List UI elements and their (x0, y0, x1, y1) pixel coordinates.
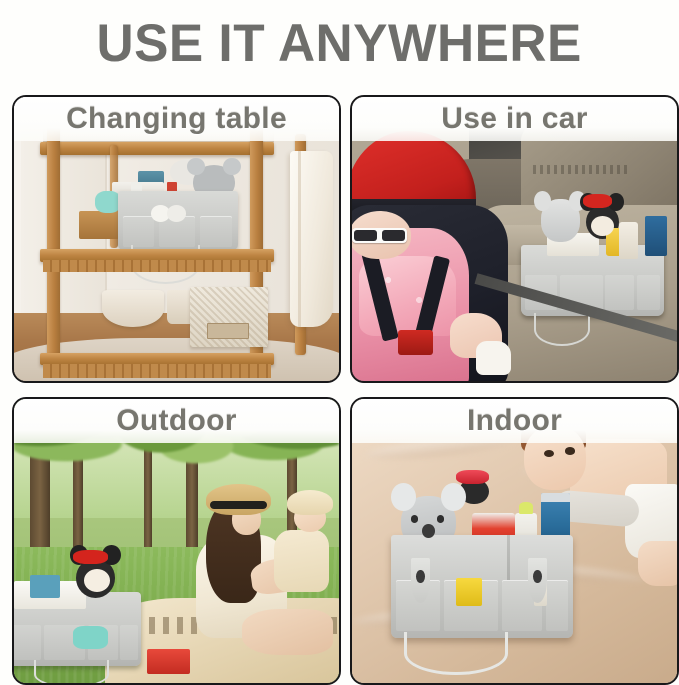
minnie-bow (73, 550, 109, 564)
sunglasses (352, 228, 407, 244)
caddy-handle (34, 660, 110, 683)
white-item (167, 205, 187, 222)
bowl (102, 290, 164, 327)
baby-body (274, 530, 329, 592)
koala-eye (437, 515, 445, 522)
harness-buckle (398, 330, 434, 356)
panel-label-changing-table: Changing table (66, 102, 287, 136)
panel-outdoor: Outdoor (12, 397, 341, 685)
teal-accessory (73, 626, 109, 649)
blue-can (645, 216, 668, 256)
straw-hat (206, 484, 271, 515)
header: USE IT ANYWHERE (0, 0, 679, 86)
panel-label-band: Outdoor (14, 399, 339, 443)
shelf-top (40, 142, 274, 155)
minnie-bow (583, 194, 612, 208)
caddy-snap-closure (411, 558, 431, 603)
panel-label-outdoor: Outdoor (116, 404, 236, 438)
caddy-pocket (120, 625, 138, 660)
panel-changing-table: Changing table (12, 95, 341, 383)
use-case-grid: Changing table (0, 86, 679, 676)
caddy-pocket (546, 580, 568, 631)
baby-eye (565, 447, 575, 454)
minnie-bow (456, 470, 489, 484)
panel-label-use-in-car: Use in car (441, 102, 587, 136)
koala-plush (541, 199, 580, 242)
caddy-pocket (123, 216, 154, 247)
shelf-slats (43, 364, 271, 378)
strawberry-basket (147, 649, 189, 675)
caddy-handle (404, 632, 508, 675)
page-title: USE IT ANYWHERE (97, 13, 582, 74)
blue-box (30, 575, 59, 598)
panel-label-band: Changing table (14, 97, 339, 141)
panel-label-indoor: Indoor (467, 404, 562, 438)
panel-label-band: Use in car (352, 97, 677, 141)
minnie-face (591, 216, 614, 236)
caddy-handle (534, 313, 590, 346)
koala-eye (411, 515, 419, 522)
caddy-pocket (200, 216, 232, 247)
koala-nose (422, 524, 435, 538)
wooden-basket (79, 211, 121, 239)
panel-indoor: Indoor (350, 397, 679, 685)
yellow-jar (456, 578, 482, 606)
mother-leg (242, 609, 333, 654)
baby-sock (476, 341, 512, 375)
baby-leg (638, 541, 677, 586)
minnie-face (84, 569, 110, 592)
bin-label-tag (207, 323, 250, 338)
caddy-divider (507, 535, 510, 584)
caddy-snap-closure (528, 558, 548, 603)
caddy-pocket (637, 275, 660, 311)
table-leg (47, 125, 61, 369)
baby-bottle (619, 222, 639, 259)
caddy-pocket (14, 625, 41, 660)
panel-label-band: Indoor (352, 399, 677, 443)
shelf-slats (43, 260, 271, 271)
baby-sun-hat (287, 490, 333, 516)
storage-bin (190, 287, 268, 347)
caddy-pocket (605, 275, 634, 311)
panel-use-in-car: Use in car (350, 95, 679, 383)
hanging-towel (290, 151, 332, 327)
